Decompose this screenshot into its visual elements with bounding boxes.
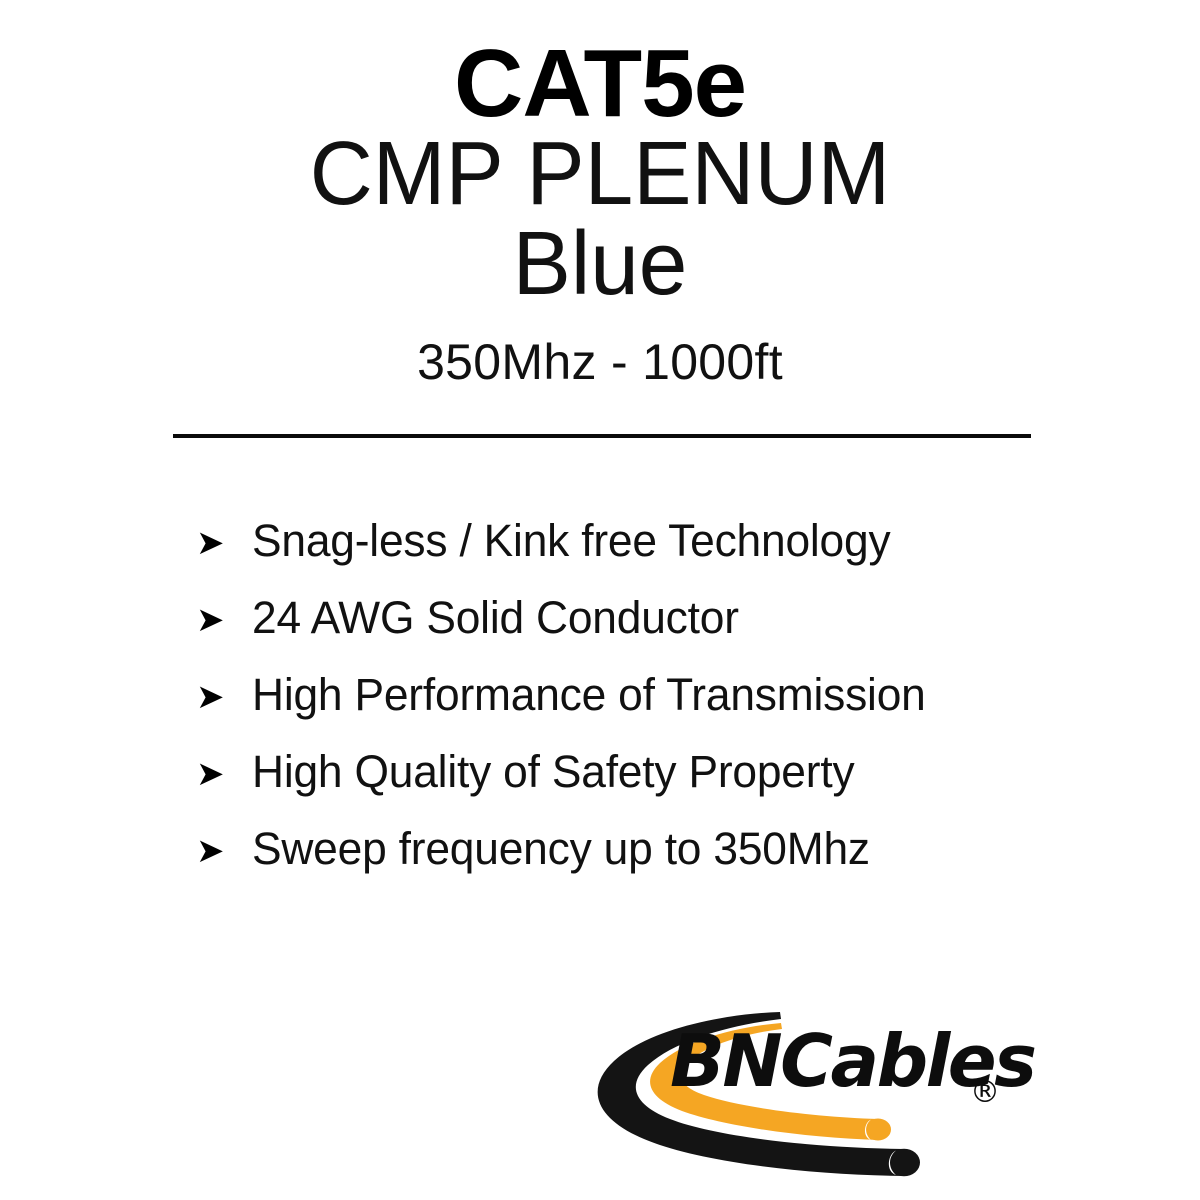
orange-cable-end-cap [865, 1119, 891, 1141]
list-item: ➤ High Quality of Safety Property [196, 749, 1096, 826]
feature-list: ➤ Snag-less / Kink free Technology ➤ 24 … [196, 518, 1096, 903]
product-category-title: CAT5e [0, 38, 1200, 129]
feature-label: Sweep frequency up to 350Mhz [252, 826, 1083, 871]
arrow-bullet-icon: ➤ [196, 757, 252, 791]
product-type-title: CMP PLENUM [18, 129, 1182, 219]
product-color-title: Blue [18, 219, 1182, 311]
section-divider [173, 434, 1031, 438]
arrow-bullet-icon: ➤ [196, 526, 252, 560]
bncables-logo: BNCables ® [548, 995, 1028, 1190]
product-title-block: CAT5e CMP PLENUM Blue 350Mhz - 1000ft [0, 38, 1200, 387]
feature-label: 24 AWG Solid Conductor [252, 595, 1083, 640]
arrow-bullet-icon: ➤ [196, 603, 252, 637]
product-spec-line: 350Mhz - 1000ft [0, 311, 1200, 387]
list-item: ➤ Snag-less / Kink free Technology [196, 518, 1096, 595]
cable-swoosh-graphic [548, 995, 1028, 1190]
arrow-bullet-icon: ➤ [196, 680, 252, 714]
list-item: ➤ Sweep frequency up to 350Mhz [196, 826, 1096, 903]
product-image-canvas: CAT5e CMP PLENUM Blue 350Mhz - 1000ft ➤ … [0, 0, 1200, 1200]
list-item: ➤ High Performance of Transmission [196, 672, 1096, 749]
black-cable-path [598, 1012, 904, 1176]
feature-label: Snag-less / Kink free Technology [252, 518, 1083, 563]
list-item: ➤ 24 AWG Solid Conductor [196, 595, 1096, 672]
arrow-bullet-icon: ➤ [196, 834, 252, 868]
feature-label: High Quality of Safety Property [252, 749, 1083, 794]
feature-label: High Performance of Transmission [252, 672, 1083, 717]
